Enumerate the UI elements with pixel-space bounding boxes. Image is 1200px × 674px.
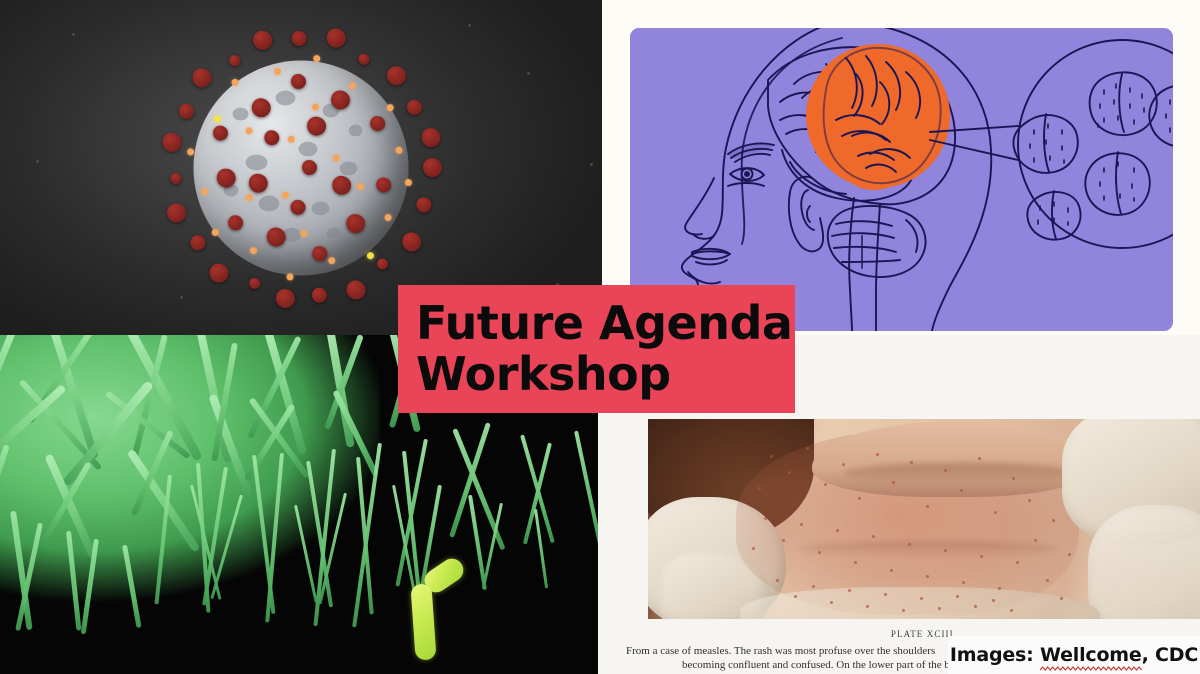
spellcheck-squiggle-icon bbox=[1040, 666, 1142, 671]
measles-photograph bbox=[648, 419, 1200, 619]
credit-prefix: Images bbox=[950, 644, 1026, 666]
image-credit-text: Images: Wellcome, CDC bbox=[950, 644, 1198, 666]
credit-comma: , bbox=[1142, 644, 1149, 666]
title-band: Future Agenda Workshop bbox=[398, 285, 795, 413]
credit-source-wellcome: Wellcome bbox=[1040, 644, 1142, 666]
credit-source-wellcome-wrap: Wellcome bbox=[1040, 644, 1142, 666]
image-credit-badge: Images: Wellcome, CDC bbox=[948, 636, 1200, 674]
bacillus-lower bbox=[410, 583, 436, 660]
credit-separator: : bbox=[1026, 644, 1033, 666]
credit-source-cdc: CDC bbox=[1155, 644, 1198, 666]
poster-canvas: PLATE XCIII. From a case of measles. The… bbox=[0, 0, 1200, 674]
title-line-1: Future Agenda bbox=[416, 298, 795, 349]
title-line-2: Workshop bbox=[416, 349, 795, 400]
